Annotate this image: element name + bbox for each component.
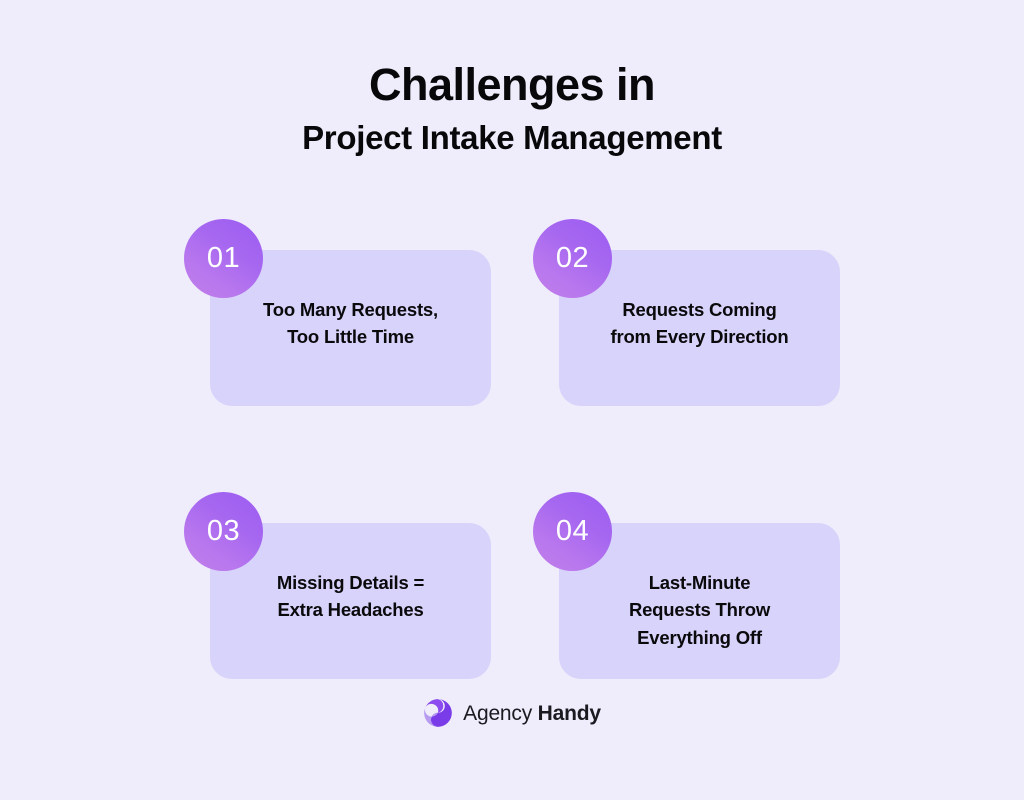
card-number-badge-01: 01 [184,219,263,298]
card-number-label-03: 03 [207,517,240,546]
brand-footer: Agency Handy [0,698,1024,728]
brand-name: Agency Handy [463,703,601,724]
card-row-1: Too Many Requests, Too Little Time 01 Re… [184,219,840,406]
card-title-04: Last-Minute Requests Throw Everything Of… [574,569,826,651]
challenge-card-01[interactable]: Too Many Requests, Too Little Time 01 [184,219,494,406]
page-title: Challenges in Project Intake Management [0,58,1024,160]
card-row-2: Missing Details = Extra Headaches 03 Las… [184,492,840,679]
card-number-badge-03: 03 [184,492,263,571]
challenge-card-02[interactable]: Requests Coming from Every Direction 02 [533,219,843,406]
card-title-03: Missing Details = Extra Headaches [225,569,477,624]
card-title-01: Too Many Requests, Too Little Time [225,296,477,351]
page-title-line-1: Challenges in [0,58,1024,111]
challenge-card-grid: Too Many Requests, Too Little Time 01 Re… [184,219,840,679]
card-number-label-01: 01 [207,244,240,273]
card-title-02: Requests Coming from Every Direction [574,296,826,351]
challenge-card-04[interactable]: Last-Minute Requests Throw Everything Of… [533,492,843,679]
card-number-label-04: 04 [556,517,589,546]
card-number-label-02: 02 [556,244,589,273]
card-number-badge-02: 02 [533,219,612,298]
card-number-badge-04: 04 [533,492,612,571]
agency-handy-swirl-icon [423,698,453,728]
page-title-line-2: Project Intake Management [0,117,1024,160]
brand-name-part-2: Handy [538,702,601,725]
challenge-card-03[interactable]: Missing Details = Extra Headaches 03 [184,492,494,679]
brand-name-part-1: Agency [463,702,532,725]
infographic-poster: Challenges in Project Intake Management … [0,0,1024,800]
